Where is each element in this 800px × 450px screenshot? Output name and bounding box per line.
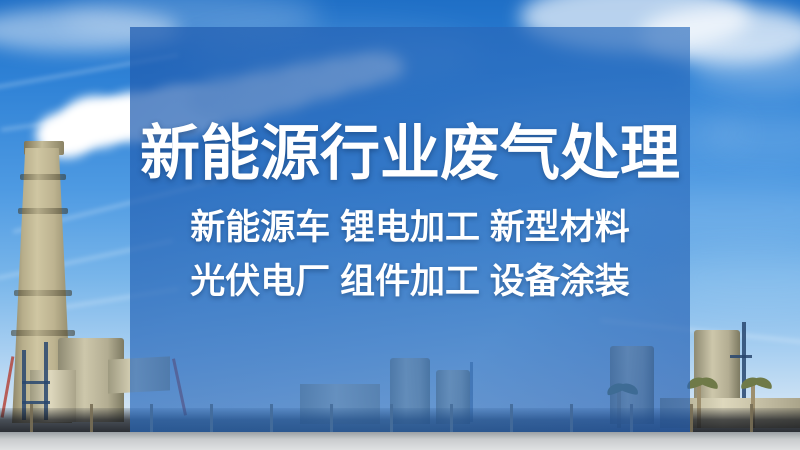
subtitle-line-2: 光伏电厂 组件加工 设备涂装 xyxy=(190,264,629,299)
chimney-band xyxy=(20,174,66,180)
promo-banner: 新能源行业废气处理 新能源车 锂电加工 新型材料 光伏电厂 组件加工 设备涂装 xyxy=(0,0,800,450)
chimney-band xyxy=(18,208,68,214)
plant-truss xyxy=(730,355,752,358)
fence-post xyxy=(30,404,33,434)
subtitle-line-1: 新能源车 锂电加工 新型材料 xyxy=(190,210,629,245)
chimney-band xyxy=(14,290,72,296)
page-title: 新能源行业废气处理 xyxy=(140,124,680,184)
ground-strip xyxy=(0,432,800,450)
fence-post xyxy=(90,404,93,434)
fence-post xyxy=(750,404,753,434)
fence-post xyxy=(690,404,693,434)
banner-text-block: 新能源行业废气处理 新能源车 锂电加工 新型材料 光伏电厂 组件加工 设备涂装 xyxy=(130,27,690,432)
plant-truss xyxy=(22,381,50,384)
plant-truss xyxy=(22,401,50,404)
palm-frond xyxy=(752,375,774,390)
